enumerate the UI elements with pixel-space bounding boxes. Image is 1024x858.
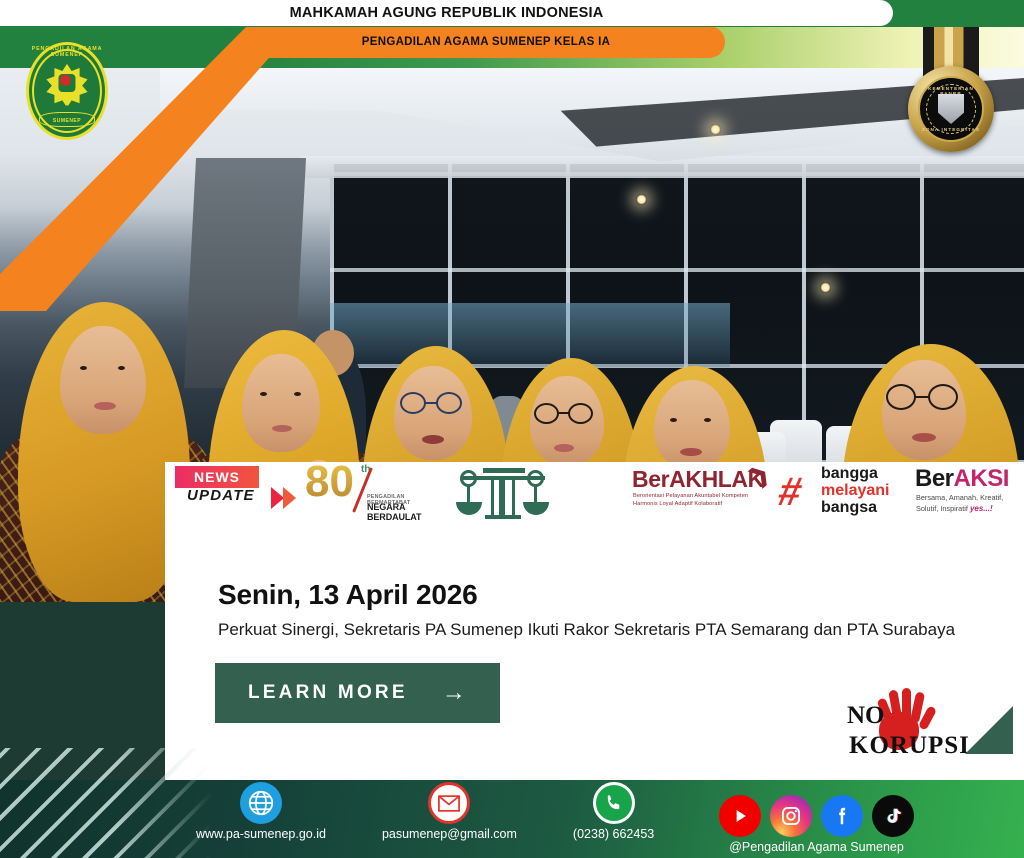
beraksi-yes: yes...!: [970, 504, 993, 513]
court-seal-logo: PENGADILAN AGAMA SUMENEP SUMENEP: [26, 42, 108, 140]
arrow-right-icon: →: [442, 681, 466, 705]
institution-title: MAHKAMAH AGUNG REPUBLIK INDONESIA: [290, 5, 604, 21]
diagonal-hatch-pattern: [0, 748, 212, 858]
news-badge-label: NEWS: [194, 469, 240, 485]
update-label: UPDATE: [187, 487, 255, 504]
beraksi-logo: BerAKSI Bersama, Amanah, Kreatif, Soluti…: [915, 465, 1024, 519]
tiktok-icon[interactable]: [872, 795, 914, 837]
court-name-label: PENGADILAN AGAMA SUMENEP KELAS IA: [362, 36, 610, 48]
social-row: @Pengadilan Agama Sumenep: [719, 795, 914, 854]
social-icons: [719, 795, 914, 837]
anniversary-number: 80: [305, 460, 354, 504]
contact-row: www.pa-sumenep.go.id pasumenep@gmail.com…: [196, 782, 654, 854]
court-name-bar: PENGADILAN AGAMA SUMENEP KELAS IA: [247, 26, 725, 58]
anniversary-line2: NEGARA BERDAULAT: [367, 502, 437, 522]
social-handle: @Pengadilan Agama Sumenep: [729, 840, 904, 854]
phone-icon: [593, 782, 635, 824]
no-korupsi-logo: NO KORUPSI: [845, 690, 970, 762]
contact-phone[interactable]: (0238) 662453: [573, 782, 654, 841]
contact-phone-label: (0238) 662453: [573, 827, 654, 841]
bangga-line1: bangga: [821, 465, 878, 482]
youtube-icon[interactable]: [719, 795, 761, 837]
bangga-line2: melayani: [821, 482, 889, 499]
orange-bracket-graphic: PENGADILAN AGAMA SUMENEP KELAS IA: [0, 26, 780, 311]
scales-of-justice-icon: [455, 464, 551, 520]
no-korupsi-line2: KORUPSI: [849, 732, 970, 760]
globe-icon: [240, 782, 282, 824]
learn-more-label: LEARN MORE: [248, 682, 408, 704]
beraksi-sub-line1: Bersama, Amanah, Kreatif,: [916, 492, 1003, 503]
berakhlak-sub-line1: Berorientasi Pelayanan Akuntabel Kompete…: [633, 492, 748, 500]
berakhlak-subtitle: Berorientasi Pelayanan Akuntabel Kompete…: [633, 492, 748, 509]
email-icon: [428, 782, 470, 824]
instagram-icon[interactable]: [770, 795, 812, 837]
court-seal-bottom-text: SUMENEP: [26, 118, 108, 124]
anniversary-80-logo: 80 th PENGADILAN BERMARTABAT NEGARA BERD…: [305, 464, 437, 520]
medal-bottom-text: ZONA INTEGRITAS: [920, 127, 982, 132]
berakhlak-logo: BerAKHLAK ❯ Berorientasi Pelayanan Akunt…: [632, 466, 772, 518]
learn-more-button[interactable]: LEARN MORE →: [215, 663, 500, 723]
medal-disc: KEMENTERIAN PANRB ZONA INTEGRITAS: [908, 66, 994, 152]
beraksi-title-part2: AKSI: [954, 465, 1009, 492]
article-headline: Perkuat Sinergi, Sekretaris PA Sumenep I…: [218, 619, 978, 641]
contact-website[interactable]: www.pa-sumenep.go.id: [196, 782, 326, 841]
contact-email[interactable]: pasumenep@gmail.com: [382, 782, 517, 841]
beraksi-sub-line2: Solutif, Inspiratif: [916, 504, 968, 513]
partner-logo-row: NEWS UPDATE 80 th PENGADILAN BERMARTABAT…: [165, 462, 1024, 524]
beraksi-subtitle: Bersama, Amanah, Kreatif, Solutif, Inspi…: [916, 492, 1003, 516]
contact-email-label: pasumenep@gmail.com: [382, 827, 517, 841]
bangga-melayani-bangsa-logo: # bangga melayani bangsa: [779, 463, 907, 521]
chevron-right-icon-2: [283, 487, 296, 509]
photo-lamp-2: [820, 282, 831, 293]
institution-title-pill: MAHKAMAH AGUNG REPUBLIK INDONESIA: [0, 0, 893, 26]
hashtag-icon: #: [775, 472, 806, 512]
court-seal-top-text: PENGADILAN AGAMA SUMENEP: [26, 46, 108, 58]
facebook-icon[interactable]: [821, 795, 863, 837]
beraksi-title-part1: Ber: [915, 465, 954, 492]
article-text-block: Senin, 13 April 2026 Perkuat Sinergi, Se…: [218, 580, 978, 641]
poster-stage: PENGADILAN AGAMA SUMENEP KELAS IA MAHKAM…: [0, 0, 1024, 858]
article-date: Senin, 13 April 2026: [218, 580, 978, 611]
court-seal-emblem-icon: [59, 74, 76, 92]
contact-website-label: www.pa-sumenep.go.id: [196, 827, 326, 841]
berakhlak-sub-line2: Harmonis Loyal Adaptif Kolaboratif: [633, 500, 748, 508]
no-korupsi-line1: NO: [847, 702, 885, 730]
bangga-line3: bangsa: [821, 499, 877, 516]
news-badge: NEWS: [175, 466, 259, 488]
